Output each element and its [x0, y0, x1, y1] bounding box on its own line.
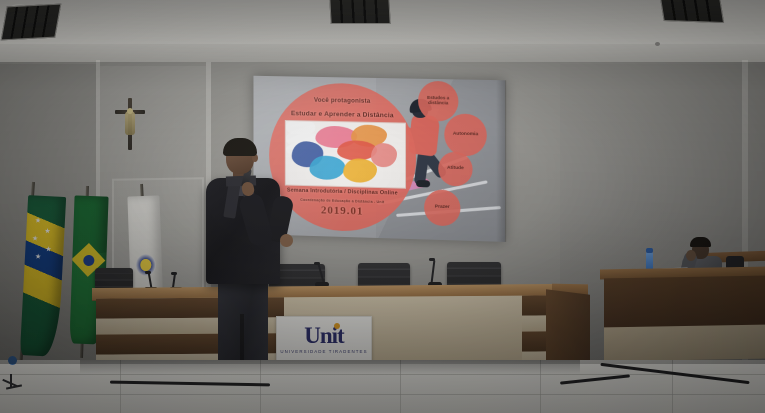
ceiling-light-icon [660, 0, 724, 23]
flag-star-icon: ★ [44, 228, 51, 235]
water-bottle-cap [646, 248, 653, 253]
microphone-stand [2, 364, 32, 390]
floor-tile-line [0, 394, 765, 395]
floor-shadow [80, 360, 580, 374]
seated-person-hair [690, 237, 711, 247]
screen-edge-shadow [496, 80, 506, 242]
chair-back [95, 268, 133, 290]
floor-tile-line [0, 374, 765, 375]
mic-head [314, 262, 320, 265]
flag-star-icon: ★ [35, 218, 42, 225]
seated-person-hand [686, 250, 696, 261]
head-table-side [546, 289, 590, 368]
mic-stand-leg [6, 384, 22, 389]
flag-star-icon: ★ [45, 246, 52, 253]
crucifix-icon [113, 98, 147, 150]
mic-stand-head-icon [8, 356, 17, 365]
mic-head [145, 271, 151, 274]
desk-panel [522, 295, 548, 315]
unit-logo-word: Unit [304, 325, 343, 347]
flag-star-icon: ★ [35, 254, 42, 261]
mic-head [429, 258, 435, 261]
mic-stand-pole [10, 374, 12, 388]
side-table-front [604, 276, 765, 331]
ceiling-light-icon [329, 0, 390, 24]
ceiling-light-icon [1, 4, 62, 41]
unit-logo-dot-icon [334, 323, 340, 329]
ceiling-smoke-detector-icon [655, 42, 660, 46]
speaker-hair [223, 138, 257, 156]
crucifix-figure-head [127, 108, 133, 114]
speaker-person [196, 138, 300, 378]
flag-star-icon: ★ [32, 235, 39, 242]
desk-panel [522, 331, 548, 351]
lecture-hall-photo: Você protagonista Estudar e Aprender a D… [0, 0, 765, 413]
mic-head [171, 272, 177, 275]
crucifix-figure [125, 111, 135, 135]
speaker-hand-left [280, 234, 293, 247]
side-table-base [604, 325, 765, 362]
floor-tile-line [672, 360, 673, 413]
desk-panel [522, 315, 548, 331]
